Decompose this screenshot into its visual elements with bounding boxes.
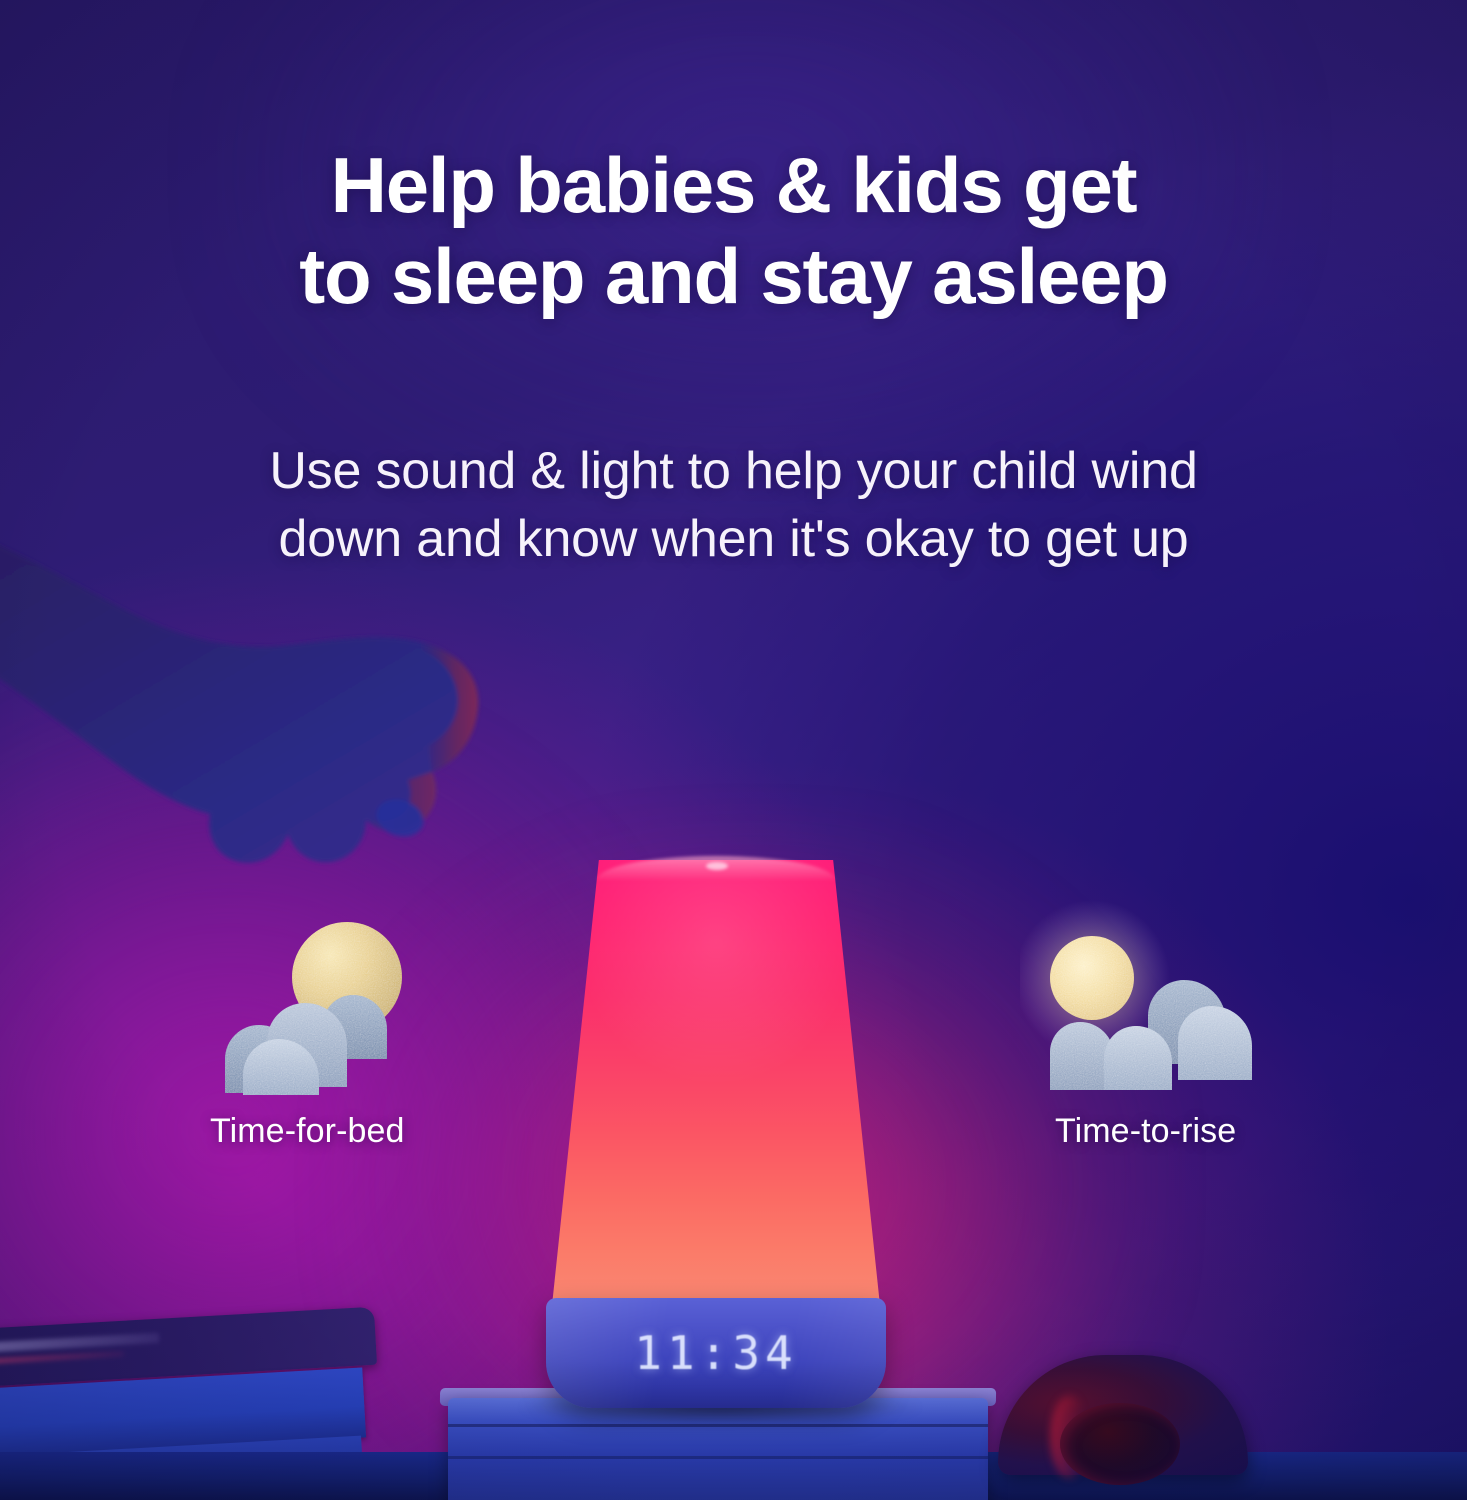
feature-icon-time-for-bed xyxy=(205,905,455,1100)
night-light-device[interactable]: 11:34 xyxy=(551,860,881,1405)
book-title-blur xyxy=(0,1333,159,1354)
feature-icon-time-to-rise xyxy=(1020,900,1270,1095)
page-subtitle: Use sound & light to help your child win… xyxy=(0,438,1467,573)
lamp-top-button[interactable] xyxy=(706,862,728,870)
toy-nose xyxy=(1060,1403,1180,1485)
page-title: Help babies & kids get to sleep and stay… xyxy=(0,140,1467,323)
book-subtitle-blur xyxy=(0,1351,124,1365)
clock-display: 11:34 xyxy=(551,1326,881,1380)
moon-behind-cloud-icon xyxy=(205,905,455,1095)
plush-toy-right xyxy=(998,1355,1248,1483)
product-marketing-image: Help babies & kids get to sleep and stay… xyxy=(0,0,1467,1500)
feature-label-time-for-bed: Time-for-bed xyxy=(210,1112,405,1151)
lamp-shade-highlight xyxy=(551,860,881,1315)
feature-label-time-to-rise: Time-to-rise xyxy=(1055,1112,1236,1151)
sun-behind-cloud-icon xyxy=(1020,900,1270,1090)
